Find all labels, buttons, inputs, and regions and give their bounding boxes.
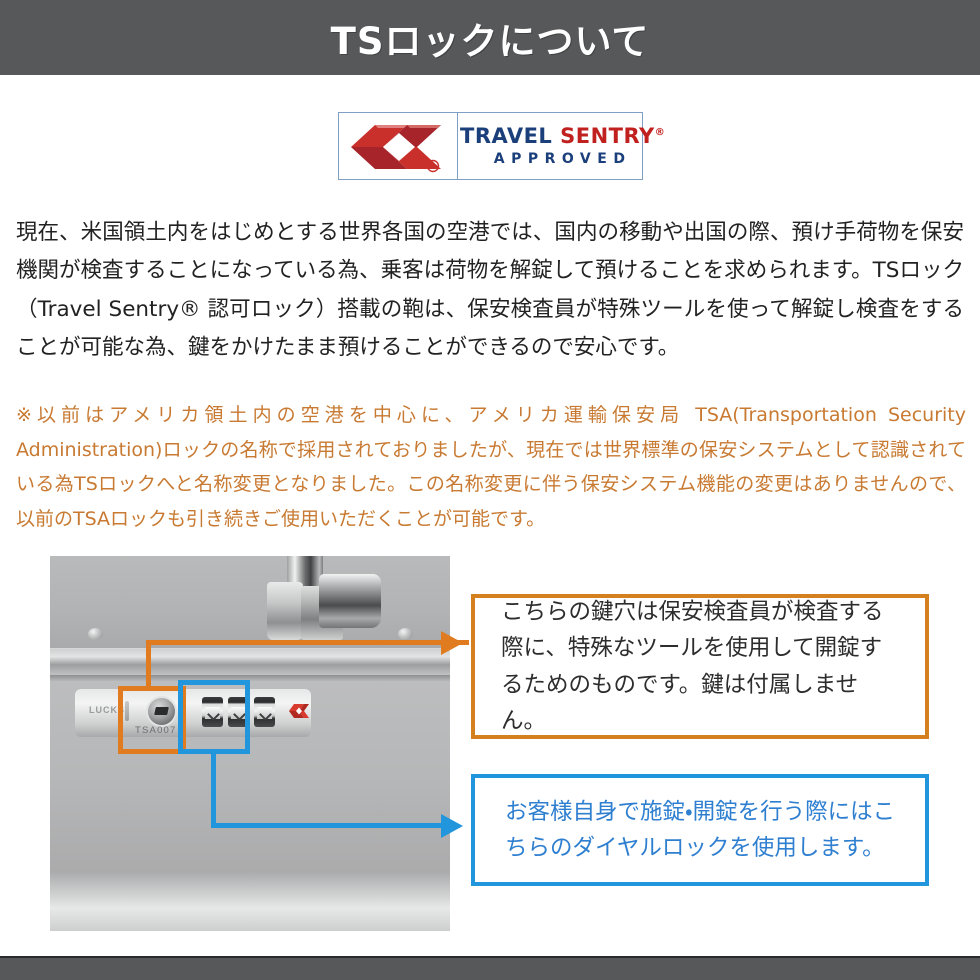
travel-sentry-diamond-icon (339, 113, 458, 179)
logo-sentry-word: SENTRY (560, 124, 655, 148)
dial-callout-box: お客様自身で施錠・開錠を行う際にはこちらのダイヤルロックを使用します。 (471, 774, 929, 886)
photo-frame-rail (50, 648, 450, 676)
rivet-left-icon (88, 628, 103, 640)
logo-travel-word: TRAVEL (460, 124, 552, 148)
chrome-latch-icon (245, 556, 385, 642)
blue-connector-vertical (211, 750, 216, 828)
note-paragraph: ※以前はアメリカ領土内の空港を中心に、アメリカ運輸保安局 TSA(Transpo… (16, 398, 966, 536)
logo-approved-word: APPROVED (494, 151, 632, 167)
orange-connector-horizontal (146, 640, 449, 645)
orange-arrow-icon (441, 631, 463, 655)
rivet-right-icon (398, 628, 413, 640)
keyhole-highlight-box (118, 686, 186, 754)
travel-sentry-mark-icon (288, 701, 310, 721)
blue-connector-horizontal (211, 823, 449, 828)
travel-sentry-approved-logo: TRAVEL SENTRY® APPROVED (338, 112, 643, 180)
suitcase-tsa-lock-photo: LUCKS TSA007 (50, 556, 450, 931)
page-footer (0, 956, 980, 980)
logo-registered-icon: ® (655, 127, 666, 138)
page-title: TSロックについて (331, 11, 650, 65)
blue-arrow-icon (441, 814, 463, 838)
dial-wheel-3 (254, 697, 275, 727)
keyhole-callout-box: こちらの鍵穴は保安検査員が検査する際に、特殊なツールを使用して開錠するためのもの… (471, 594, 929, 739)
dial-highlight-box (178, 680, 250, 754)
logo-wordmark: TRAVEL SENTRY® APPROVED (458, 113, 665, 179)
orange-connector-vertical (146, 640, 151, 690)
intro-paragraph: 現在、米国領土内をはじめとする世界各国の空港では、国内の移動や出国の際、預け手荷… (16, 214, 964, 367)
dial-callout-text: お客様自身で施錠・開錠を行う際にはこちらのダイヤルロックを使用します。 (475, 794, 925, 867)
page-header: TSロックについて (0, 0, 980, 75)
photo-bottom-edge (50, 871, 450, 931)
keyhole-callout-text: こちらの鍵穴は保安検査員が検査する際に、特殊なツールを使用して開錠するためのもの… (475, 594, 925, 740)
